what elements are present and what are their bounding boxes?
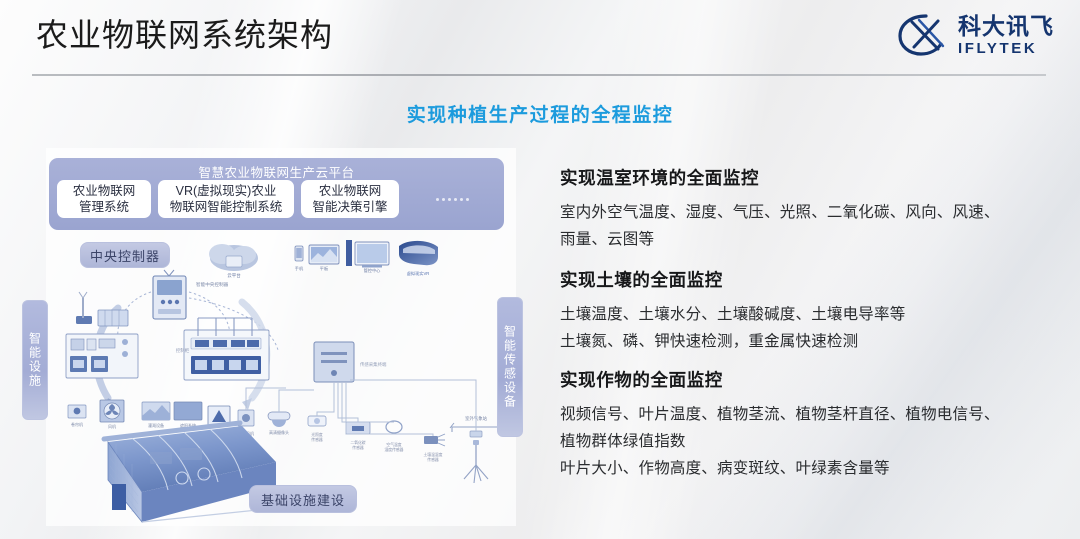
svg-text:光照度: 光照度 xyxy=(311,432,323,437)
svg-text:传感器: 传感器 xyxy=(311,437,323,442)
control-board-icon: 控制柜 xyxy=(176,318,269,380)
section-title: 实现土壤的全面监控 xyxy=(560,267,1068,292)
section-greenhouse-environment: 实现温室环境的全面监控 室内外空气温度、湿度、气压、光照、二氧化碳、风向、风速、… xyxy=(560,165,1068,253)
pill-central-controller: 中央控制器 xyxy=(80,242,170,268)
side-label-smart-facility: 智能设施 xyxy=(22,300,48,420)
logo-text-cn: 科大讯飞 xyxy=(958,15,1054,38)
svg-text:风机: 风机 xyxy=(108,423,116,429)
svg-text:传感器: 传感器 xyxy=(427,457,439,462)
section-line: 土壤氮、磷、钾快速检测，重金属快速检测 xyxy=(560,328,1068,355)
content-column: 实现温室环境的全面监控 室内外空气温度、湿度、气压、光照、二氧化碳、风向、风速、… xyxy=(560,165,1068,495)
svg-text:卷帘机: 卷帘机 xyxy=(71,421,83,427)
svg-text:控制柜: 控制柜 xyxy=(176,347,190,354)
iflytek-logo-icon xyxy=(896,13,950,57)
svg-text:空气温度: 空气温度 xyxy=(386,442,401,447)
module-decision-engine[interactable]: 农业物联网 智能决策引擎 xyxy=(301,180,399,218)
cloud-platform-bar: 智慧农业物联网生产云平台 农业物联网 管理系统 VR(虚拟现实)农业 物联网智能… xyxy=(49,158,504,230)
top-device-icons: 云平台 手机 平板 xyxy=(209,240,438,279)
module-vr-control-system[interactable]: VR(虚拟现实)农业 物联网智能控制系统 xyxy=(158,180,294,218)
svg-text:虚拟现实VR: 虚拟现实VR xyxy=(407,270,430,277)
logo-text: 科大讯飞 IFLYTEK xyxy=(958,15,1054,56)
air-temp-humidity-sensor-icon: 空气温度 湿度传感器 xyxy=(385,421,404,452)
iot-architecture-illustration: 云平台 手机 平板 xyxy=(46,230,516,526)
vr-headset-icon: 虚拟现实VR xyxy=(399,241,438,277)
section-crop: 实现作物的全面监控 视频信号、叶片温度、植物茎流、植物茎杆直径、植物电信号、 植… xyxy=(560,367,1068,482)
module-management-system[interactable]: 农业物联网 管理系统 xyxy=(57,180,151,218)
svg-text:传感采集终端: 传感采集终端 xyxy=(360,361,387,368)
cloud-icon: 云平台 xyxy=(209,244,258,279)
brand-logo: 科大讯飞 IFLYTEK xyxy=(896,13,1054,57)
soil-temp-humidity-sensor-icon: 土壤温湿度 传感器 xyxy=(424,434,445,462)
power-cabinet-icon xyxy=(66,334,138,378)
section-line: 雨量、云图等 xyxy=(560,226,1068,253)
side-label-smart-sensor-devices: 智能传感设备 xyxy=(497,297,523,437)
section-subtitle: 实现种植生产过程的全程监控 xyxy=(0,100,1080,127)
svg-text:湿度传感器: 湿度传感器 xyxy=(385,447,404,452)
svg-text:传感器: 传感器 xyxy=(352,445,364,450)
architecture-diagram: 智慧农业物联网生产云平台 农业物联网 管理系统 VR(虚拟现实)农业 物联网智能… xyxy=(46,148,516,526)
more-modules-ellipsis-icon xyxy=(406,180,496,218)
pill-infrastructure: 基础设施建设 xyxy=(249,485,357,513)
svg-text:灌溉设备: 灌溉设备 xyxy=(148,422,164,428)
section-soil: 实现土壤的全面监控 土壤温度、土壤水分、土壤酸碱度、土壤电导率等 土壤氮、磷、钾… xyxy=(560,267,1068,355)
svg-text:平板: 平板 xyxy=(320,265,329,272)
section-line: 叶片大小、作物高度、病变斑纹、叶绿素含量等 xyxy=(560,455,1068,482)
title-divider xyxy=(32,74,1046,76)
slide: 农业物联网系统架构 科大讯飞 IFLYTEK 实现种植生产过程的全程监控 智慧农… xyxy=(0,0,1080,539)
phone-icon: 手机 xyxy=(295,246,304,272)
svg-text:高清摄像头: 高清摄像头 xyxy=(269,429,289,435)
logo-text-en: IFLYTEK xyxy=(958,41,1054,56)
tablet-icon: 平板 xyxy=(309,245,339,272)
section-title: 实现作物的全面监控 xyxy=(560,367,1068,392)
section-line: 视频信号、叶片温度、植物茎流、植物茎杆直径、植物电信号、 xyxy=(560,401,1068,428)
section-line: 土壤温度、土壤水分、土壤酸碱度、土壤电导率等 xyxy=(560,301,1068,328)
page-title: 农业物联网系统架构 xyxy=(36,12,333,58)
section-line: 室内外空气温度、湿度、气压、光照、二氧化碳、风向、风速、 xyxy=(560,199,1068,226)
co2-sensor-icon: 二氧化碳 传感器 xyxy=(346,422,370,450)
cloud-platform-modules: 农业物联网 管理系统 VR(虚拟现实)农业 物联网智能控制系统 农业物联网 智能… xyxy=(57,180,496,218)
light-sensor-icon: 光照度 传感器 xyxy=(308,416,326,442)
sensor-icons: 光照度 传感器 二氧化碳 传感器 空气温度 湿度传感器 土壤温 xyxy=(308,415,502,483)
control-center-icon: 管控中心 xyxy=(346,240,389,274)
section-line: 植物群体绿值指数 xyxy=(560,428,1068,455)
svg-text:智能中央控制器: 智能中央控制器 xyxy=(196,281,229,288)
cloud-platform-title: 智慧农业物联网生产云平台 xyxy=(49,162,504,181)
section-title: 实现温室环境的全面监控 xyxy=(560,165,1068,190)
svg-text:二氧化碳: 二氧化碳 xyxy=(350,440,365,445)
smart-central-controller-icon: 智能中央控制器 xyxy=(153,270,229,319)
svg-text:管控中心: 管控中心 xyxy=(364,267,382,274)
svg-text:土壤温湿度: 土壤温湿度 xyxy=(424,452,443,457)
sensor-collector-icon: 传感采集终端 xyxy=(314,342,387,382)
hd-camera-icon: 高清摄像头 xyxy=(268,412,290,435)
svg-text:手机: 手机 xyxy=(295,265,304,272)
svg-text:云平台: 云平台 xyxy=(227,272,241,279)
slide-header: 农业物联网系统架构 科大讯飞 IFLYTEK xyxy=(0,0,1080,78)
